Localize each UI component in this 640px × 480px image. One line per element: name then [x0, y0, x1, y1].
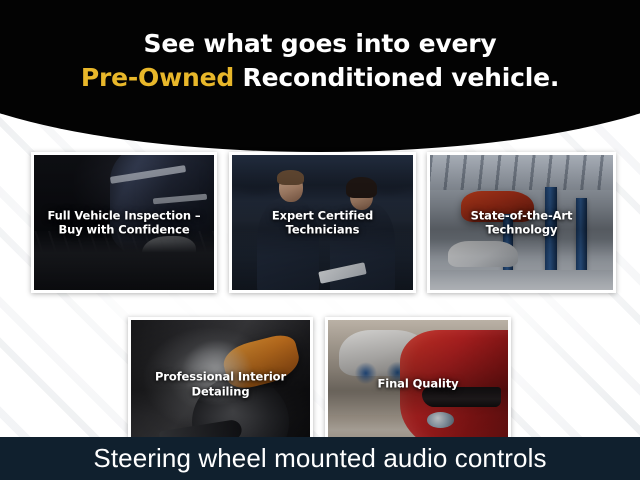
headline-accent-word: Pre-Owned	[81, 63, 234, 92]
feature-card-final-quality[interactable]: Final Quality	[325, 317, 511, 451]
card-caption-inspection: Full Vehicle Inspection – Buy with Confi…	[38, 208, 210, 237]
slide-canvas: See what goes into every Pre-Owned Recon…	[0, 0, 640, 480]
feature-card-technicians[interactable]: Expert Certified Technicians	[229, 152, 416, 293]
headline-line-2-rest: Reconditioned vehicle.	[234, 63, 559, 92]
card-caption-technology: State-of-the-Art Technology	[434, 208, 609, 237]
caption-line-1: Full Vehicle Inspection –	[47, 208, 200, 222]
caption-line-1: Expert Certified Technicians	[272, 208, 373, 237]
feature-card-inspection[interactable]: Full Vehicle Inspection – Buy with Confi…	[31, 152, 217, 293]
card-caption-technicians: Expert Certified Technicians	[236, 208, 409, 237]
caption-line-1: State-of-the-Art Technology	[471, 208, 573, 237]
headline-line-1: See what goes into every	[0, 27, 640, 61]
feature-card-technology[interactable]: State-of-the-Art Technology	[427, 152, 616, 293]
headline-text-block: See what goes into every Pre-Owned Recon…	[0, 27, 640, 94]
card-caption-final-quality: Final Quality	[332, 377, 504, 392]
feature-card-detailing[interactable]: Professional Interior Detailing	[128, 317, 313, 451]
card-caption-detailing: Professional Interior Detailing	[135, 369, 306, 398]
caption-line-1: Final Quality	[378, 377, 459, 391]
bottom-caption-text: Steering wheel mounted audio controls	[93, 443, 546, 474]
caption-line-2: Detailing	[192, 384, 250, 398]
headline-banner: See what goes into every Pre-Owned Recon…	[0, 0, 640, 152]
caption-line-2: Buy with Confidence	[58, 223, 189, 237]
headline-line-2: Pre-Owned Reconditioned vehicle.	[0, 61, 640, 95]
bottom-caption-bar: Steering wheel mounted audio controls	[0, 437, 640, 480]
caption-line-1: Professional Interior	[155, 369, 286, 383]
